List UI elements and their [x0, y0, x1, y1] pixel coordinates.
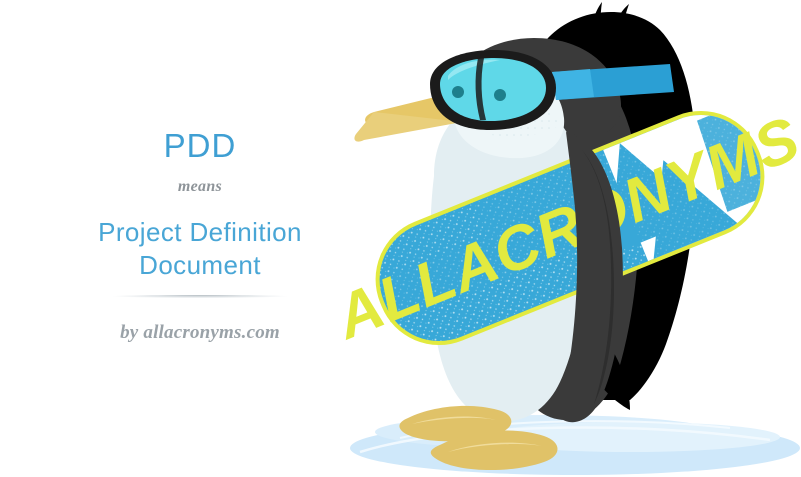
penguin-mascot-illustration: ALLACRONYMS [330, 0, 801, 477]
horizontal-divider [112, 295, 288, 298]
poster-canvas: PDD means Project Definition Document by… [0, 0, 801, 477]
